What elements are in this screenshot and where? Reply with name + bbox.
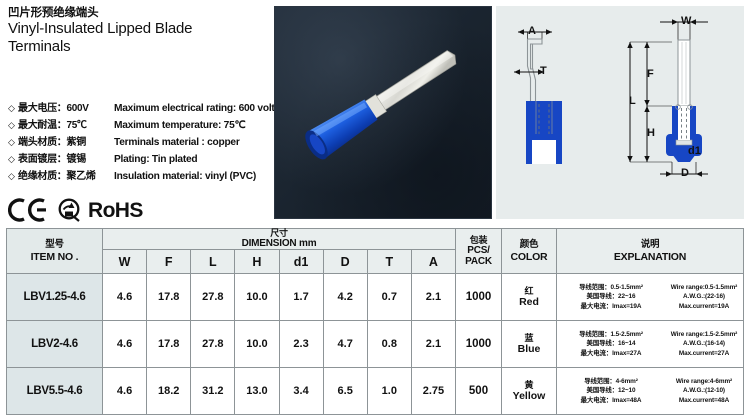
explanation-en: A.W.G.:(16-14) — [665, 339, 743, 349]
explanation-en: Wire range:1.5-2.5mm² — [665, 330, 743, 340]
cell-item-no: LBV1.25-4.6 — [7, 274, 103, 321]
cell-dim-L: 31.2 — [191, 368, 235, 415]
dimension-label-W: W — [681, 15, 691, 27]
explanation-line: 最大电流：Imax=48A Max.current=48A — [557, 396, 743, 406]
cell-dim-d1: 1.7 — [279, 274, 323, 321]
bullet-icon: ◇ — [8, 151, 18, 168]
cell-dim-W: 4.6 — [103, 321, 147, 368]
explanation-line: 导线范围：1.5-2.5mm² Wire range:1.5-2.5mm² — [557, 330, 743, 340]
dimension-label-d1: d1 — [688, 145, 701, 157]
ce-mark-icon — [8, 198, 50, 222]
color-name-cn: 蓝 — [502, 333, 556, 343]
explanation-en: Max.current=27A — [665, 349, 743, 359]
color-name-cn: 红 — [502, 286, 556, 296]
title-chinese: 凹片形预绝缘端头 — [8, 6, 268, 20]
header-dim-d1: d1 — [279, 250, 323, 274]
circle-certification-icon — [57, 198, 81, 222]
cell-dim-A: 2.1 — [411, 274, 455, 321]
header-explanation: 说明 EXPLANATION — [557, 229, 744, 274]
cell-dim-D: 4.2 — [323, 274, 367, 321]
dimension-label-A: A — [528, 25, 536, 37]
header-color-cn: 颜色 — [502, 239, 556, 251]
cell-dim-A: 2.75 — [411, 368, 455, 415]
spec-item: ◇ 绝缘材质：聚乙烯 Insulation material: vinyl (P… — [8, 168, 266, 185]
spec-item: ◇ 最大电压：600V Maximum electrical rating: 6… — [8, 100, 266, 117]
cell-dim-d1: 2.3 — [279, 321, 323, 368]
spec-item: ◇ 最大耐温：75℃ Maximum temperature: 75℃ — [8, 117, 266, 134]
explanation-cn: 最大电流：Imax=48A — [557, 396, 665, 406]
color-name-en: Yellow — [502, 390, 556, 402]
specification-table: 型号 ITEM NO . 尺寸 DIMENSION mm 包装 PCS/ PAC… — [6, 228, 744, 415]
spec-label-english: Maximum electrical rating: 600 volts — [114, 100, 280, 117]
header-item-no-cn: 型号 — [7, 239, 102, 251]
top-section: 凹片形预绝缘端头 Vinyl-Insulated Lipped Blade Te… — [0, 0, 750, 224]
header-item-no-en: ITEM NO . — [7, 251, 102, 264]
explanation-line: 导线范围：4-6mm² Wire range:4-6mm² — [557, 377, 743, 387]
cell-dim-d1: 3.4 — [279, 368, 323, 415]
explanation-cn: 导线范围：1.5-2.5mm² — [557, 330, 665, 340]
explanation-cn: 导线范围：4-6mm² — [557, 377, 665, 387]
cell-dim-T: 0.8 — [367, 321, 411, 368]
spec-label-english: Insulation material: vinyl (PVC) — [114, 168, 266, 185]
cell-explanation: 导线范围：1.5-2.5mm² Wire range:1.5-2.5mm² 美国… — [557, 321, 744, 368]
cell-dim-H: 10.0 — [235, 321, 279, 368]
bullet-icon: ◇ — [8, 168, 18, 185]
cell-color: 蓝 Blue — [502, 321, 557, 368]
cell-item-no: LBV5.5-4.6 — [7, 368, 103, 415]
bullet-icon: ◇ — [8, 100, 18, 117]
cell-pack: 1000 — [456, 321, 502, 368]
cell-dim-F: 17.8 — [147, 321, 191, 368]
table-row: LBV2-4.6 4.6 17.8 27.8 10.0 2.3 4.7 0.8 … — [7, 321, 744, 368]
title-english-line1: Vinyl-Insulated Lipped Blade — [8, 20, 268, 38]
header-dimension-group: 尺寸 DIMENSION mm — [103, 229, 456, 250]
rohs-label: RoHS — [88, 200, 143, 221]
header-pack-cn: 包装 — [456, 235, 501, 245]
cell-pack: 500 — [456, 368, 502, 415]
explanation-cn: 美国导线：12~10 — [557, 386, 665, 396]
cell-pack: 1000 — [456, 274, 502, 321]
bullet-icon: ◇ — [8, 134, 18, 151]
spec-label-english: Plating: Tin plated — [114, 151, 266, 168]
color-name-cn: 黄 — [502, 380, 556, 390]
bullet-icon: ◇ — [8, 117, 18, 134]
dimension-label-H: H — [647, 127, 655, 139]
explanation-en: A.W.G.:(12-10) — [665, 386, 743, 396]
cell-dim-F: 17.8 — [147, 274, 191, 321]
explanation-line: 最大电流：Imax=27A Max.current=27A — [557, 349, 743, 359]
dimension-label-D: D — [681, 167, 689, 179]
explanation-cn: 最大电流：Imax=27A — [557, 349, 665, 359]
spec-label-english: Terminals material : copper — [114, 134, 266, 151]
header-dim-W: W — [103, 250, 147, 274]
specification-table-container: 型号 ITEM NO . 尺寸 DIMENSION mm 包装 PCS/ PAC… — [6, 228, 744, 415]
header-color: 颜色 COLOR — [502, 229, 557, 274]
header-color-en: COLOR — [502, 251, 556, 264]
header-pack-en-line2: PACK — [456, 256, 501, 267]
cell-dim-F: 18.2 — [147, 368, 191, 415]
dimension-label-F: F — [647, 68, 654, 80]
explanation-line: 导线范围：0.5-1.5mm² Wire range:0.5-1.5mm² — [557, 283, 743, 293]
page-title: 凹片形预绝缘端头 Vinyl-Insulated Lipped Blade Te… — [8, 6, 268, 55]
header-dimension-cn: 尺寸 — [103, 229, 455, 238]
header-explanation-cn: 说明 — [557, 239, 743, 251]
cell-dim-H: 13.0 — [235, 368, 279, 415]
technical-drawings: A T — [496, 6, 744, 219]
front-view-drawing — [616, 6, 744, 219]
cell-dim-W: 4.6 — [103, 368, 147, 415]
table-row: LBV5.5-4.6 4.6 18.2 31.2 13.0 3.4 6.5 1.… — [7, 368, 744, 415]
cell-dim-H: 10.0 — [235, 274, 279, 321]
table-head: 型号 ITEM NO . 尺寸 DIMENSION mm 包装 PCS/ PAC… — [7, 229, 744, 274]
color-name-en: Blue — [502, 343, 556, 355]
explanation-line: 美国导线：12~10 A.W.G.:(12-10) — [557, 386, 743, 396]
explanation-cn: 美国导线：22~16 — [557, 292, 665, 302]
explanation-en: Wire range:0.5-1.5mm² — [665, 283, 743, 293]
cell-dim-A: 2.1 — [411, 321, 455, 368]
spec-item: ◇ 端头材质：紫铜 Terminals material : copper — [8, 134, 266, 151]
cell-dim-L: 27.8 — [191, 321, 235, 368]
cell-explanation: 导线范围：0.5-1.5mm² Wire range:0.5-1.5mm² 美国… — [557, 274, 744, 321]
cell-dim-W: 4.6 — [103, 274, 147, 321]
header-dim-A: A — [411, 250, 455, 274]
spec-label-chinese: 最大耐温：75℃ — [18, 117, 114, 134]
table-row: LBV1.25-4.6 4.6 17.8 27.8 10.0 1.7 4.2 0… — [7, 274, 744, 321]
cell-color: 红 Red — [502, 274, 557, 321]
side-view-drawing — [496, 6, 616, 219]
header-dim-L: L — [191, 250, 235, 274]
header-item-no: 型号 ITEM NO . — [7, 229, 103, 274]
cell-item-no: LBV2-4.6 — [7, 321, 103, 368]
explanation-en: Max.current=48A — [665, 396, 743, 406]
spec-label-chinese: 绝缘材质：聚乙烯 — [18, 168, 114, 185]
spec-label-chinese: 最大电压：600V — [18, 100, 114, 117]
cell-dim-T: 0.7 — [367, 274, 411, 321]
explanation-en: Max.current=19A — [665, 302, 743, 312]
cell-color: 黄 Yellow — [502, 368, 557, 415]
explanation-line: 最大电流：Imax=19A Max.current=19A — [557, 302, 743, 312]
explanation-line: 美国导线：22~16 A.W.G.:(22-16) — [557, 292, 743, 302]
header-dim-H: H — [235, 250, 279, 274]
dimension-label-T: T — [540, 65, 547, 77]
spec-label-chinese: 表面镀层：镀锡 — [18, 151, 114, 168]
header-pack-en-line1: PCS/ — [456, 245, 501, 256]
cell-explanation: 导线范围：4-6mm² Wire range:4-6mm² 美国导线：12~10… — [557, 368, 744, 415]
table-header-row-1: 型号 ITEM NO . 尺寸 DIMENSION mm 包装 PCS/ PAC… — [7, 229, 744, 250]
color-name-en: Red — [502, 296, 556, 308]
explanation-cn: 最大电流：Imax=19A — [557, 302, 665, 312]
explanation-cn: 导线范围：0.5-1.5mm² — [557, 283, 665, 293]
header-dim-F: F — [147, 250, 191, 274]
explanation-en: A.W.G.:(22-16) — [665, 292, 743, 302]
header-dim-D: D — [323, 250, 367, 274]
table-body: LBV1.25-4.6 4.6 17.8 27.8 10.0 1.7 4.2 0… — [7, 274, 744, 415]
header-pack: 包装 PCS/ PACK — [456, 229, 502, 274]
explanation-line: 美国导线：16~14 A.W.G.:(16-14) — [557, 339, 743, 349]
header-dimension-en: DIMENSION mm — [103, 238, 455, 249]
explanation-cn: 美国导线：16~14 — [557, 339, 665, 349]
header-explanation-en: EXPLANATION — [557, 251, 743, 264]
terminal-product-image — [275, 7, 492, 219]
cell-dim-D: 4.7 — [323, 321, 367, 368]
header-dim-T: T — [367, 250, 411, 274]
cell-dim-D: 6.5 — [323, 368, 367, 415]
dimension-label-L: L — [629, 95, 636, 107]
cell-dim-L: 27.8 — [191, 274, 235, 321]
product-photo — [274, 6, 492, 219]
spec-item: ◇ 表面镀层：镀锡 Plating: Tin plated — [8, 151, 266, 168]
spec-label-english: Maximum temperature: 75℃ — [114, 117, 266, 134]
certification-marks: RoHS — [8, 198, 143, 222]
explanation-en: Wire range:4-6mm² — [665, 377, 743, 387]
title-english-line2: Terminals — [8, 38, 268, 56]
spec-label-chinese: 端头材质：紫铜 — [18, 134, 114, 151]
cell-dim-T: 1.0 — [367, 368, 411, 415]
specification-list: ◇ 最大电压：600V Maximum electrical rating: 6… — [8, 100, 266, 185]
info-panel: 凹片形预绝缘端头 Vinyl-Insulated Lipped Blade Te… — [6, 6, 268, 220]
